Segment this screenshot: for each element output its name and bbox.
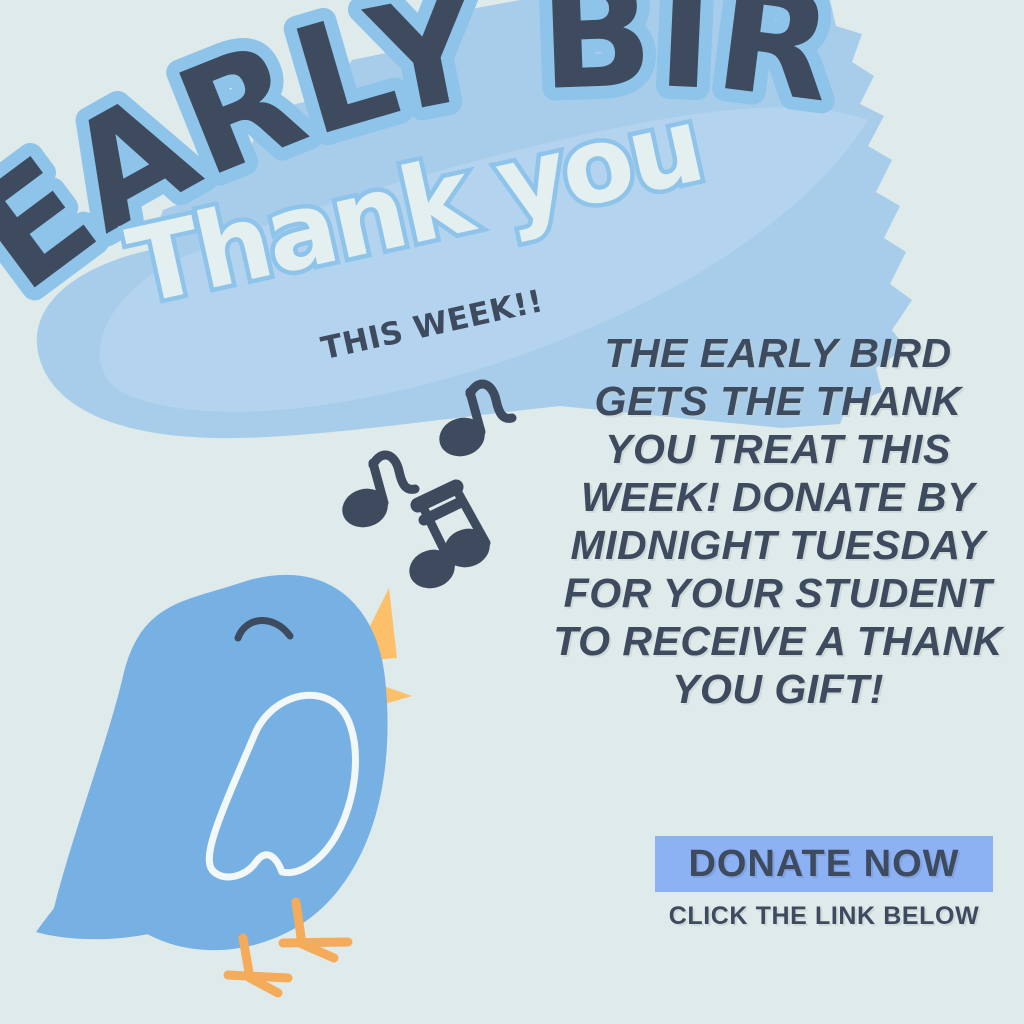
bird-feet-icon — [228, 902, 348, 993]
music-note-eighth-icon-left — [338, 455, 415, 533]
bird-beak-icon — [352, 588, 412, 712]
bird-wing-outline — [209, 695, 355, 877]
cta-subtext: CLICK THE LINK BELOW — [655, 902, 993, 931]
bird-body-tail — [36, 800, 196, 939]
promotional-poster: EARLY BIRD EARLY BIRD Thank you THIS WEE… — [0, 0, 1024, 1024]
body-copy: THE EARLY BIRD GETS THE THANK YOU TREAT … — [552, 330, 1004, 714]
bird-body — [52, 575, 388, 950]
bird-eye-icon — [238, 620, 290, 638]
donate-now-button[interactable]: DONATE NOW — [655, 836, 993, 892]
music-note-beamed-pair-icon — [405, 487, 495, 594]
music-note-eighth-icon-upper — [435, 384, 512, 462]
